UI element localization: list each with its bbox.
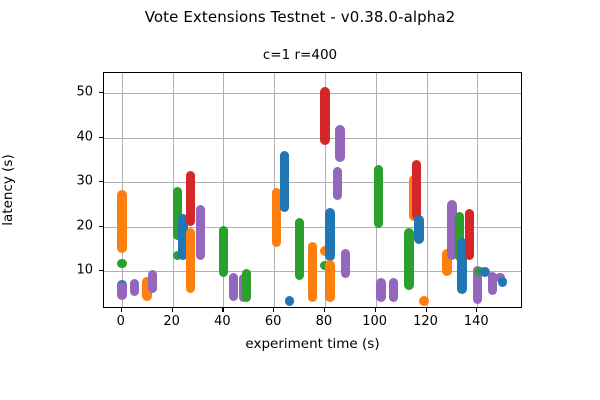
data-point-strip (389, 278, 399, 302)
y-tick-label: 20 (33, 218, 93, 233)
figure-suptitle: Vote Extensions Testnet - v0.38.0-alpha2 (0, 8, 600, 26)
gridline-horizontal (104, 138, 521, 139)
data-point-strip (419, 296, 429, 306)
x-tick-mark (324, 308, 325, 312)
data-point-strip (376, 278, 386, 302)
y-tick-label: 40 (33, 129, 93, 144)
y-tick-label: 50 (33, 85, 93, 100)
data-point-strip (320, 87, 330, 144)
data-point-strip (498, 277, 508, 287)
data-point-strip (130, 279, 140, 296)
gridline-horizontal (104, 182, 521, 183)
data-point-strip (374, 165, 384, 228)
data-point-strip (117, 190, 127, 254)
data-point-strip (325, 260, 335, 303)
data-point-strip (117, 259, 127, 269)
gridline-horizontal (104, 93, 521, 94)
gridline-vertical (427, 73, 428, 307)
data-point-strip (414, 215, 424, 244)
data-point-strip (186, 171, 196, 226)
data-point-strip (341, 249, 351, 278)
data-point-strip (148, 270, 158, 292)
data-point-strip (308, 242, 318, 302)
data-point-strip (117, 282, 127, 300)
x-axis-label: experiment time (s) (103, 336, 522, 352)
data-point-strip (295, 218, 305, 280)
data-point-strip (285, 296, 295, 306)
data-point-strip (186, 228, 196, 293)
data-point-strip (404, 228, 414, 290)
x-tick-mark (273, 308, 274, 312)
x-tick-mark (426, 308, 427, 312)
data-point-strip (219, 226, 229, 278)
plot-area (103, 72, 522, 308)
data-point-strip (412, 160, 422, 221)
y-tick-label: 10 (33, 263, 93, 278)
data-point-strip (465, 209, 475, 260)
data-point-strip (242, 269, 252, 302)
data-point-strip (196, 205, 206, 260)
data-point-strip (333, 167, 343, 200)
axes-title: c=1 r=400 (0, 47, 600, 63)
figure-canvas: Vote Extensions Testnet - v0.38.0-alpha2… (0, 0, 600, 400)
x-tick-mark (375, 308, 376, 312)
x-tick-mark (476, 308, 477, 312)
y-tick-label: 30 (33, 174, 93, 189)
x-tick-mark (222, 308, 223, 312)
data-point-strip (335, 125, 345, 162)
y-axis-label: latency (s) (0, 154, 16, 225)
data-point-strip (229, 273, 239, 302)
data-point-strip (325, 208, 335, 261)
x-tick-mark (121, 308, 122, 312)
x-tick-mark (172, 308, 173, 312)
x-tick-label: 140 (446, 314, 506, 329)
data-point-strip (280, 151, 290, 212)
